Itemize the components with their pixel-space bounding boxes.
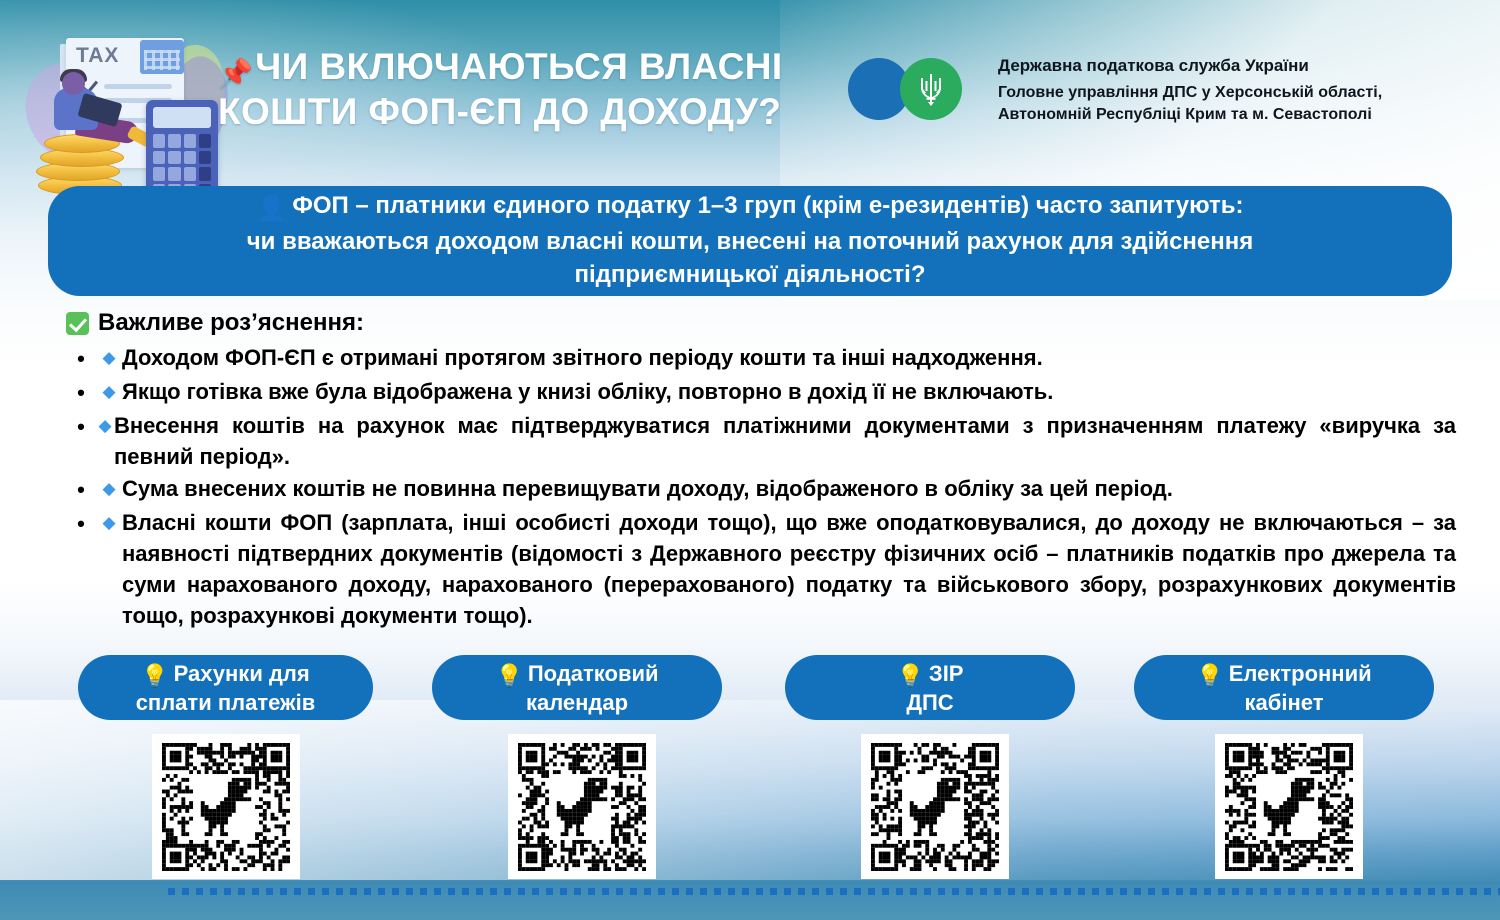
question-line-3: підприємницької діяльності? xyxy=(574,258,925,291)
org-department-line-2: Автономній Республіці Крим та м. Севасто… xyxy=(998,104,1382,126)
dps-logo xyxy=(848,50,998,128)
qr-code-payment-accounts[interactable] xyxy=(152,734,300,879)
qr-code-image xyxy=(1225,743,1353,871)
list-item: • ◆ Внесення коштів на рахунок має підтв… xyxy=(66,410,1456,472)
list-item: • ◆ Сума внесених коштів не повинна пере… xyxy=(66,473,1456,506)
link-button-label: ЗІР xyxy=(929,661,964,686)
qr-code-image xyxy=(162,743,290,871)
title-line-1-text: ЧИ ВКЛЮЧАЮТЬСЯ ВЛАСНІ xyxy=(255,46,782,87)
bottom-dotted-divider xyxy=(168,888,1500,895)
explanation-bullet-list: • ◆ Доходом ФОП-ЄП є отримані протягом з… xyxy=(66,342,1456,631)
link-button-line-2: кабінет xyxy=(1245,689,1324,716)
question-line-1-text: ФОП – платники єдиного податку 1–3 груп … xyxy=(292,192,1243,219)
infographic-page: TAX 📌ЧИ ВКЛЮЧАЮ xyxy=(0,0,1500,920)
bullet-marker: • xyxy=(66,410,96,443)
list-item: • ◆ Якщо готівка вже була відображена у … xyxy=(66,376,1456,409)
link-button-line-1: 💡Податковий xyxy=(495,660,658,689)
link-button-line-1: 💡Електронний xyxy=(1196,660,1371,689)
bullet-marker: • xyxy=(66,376,96,409)
bullet-text: Внесення коштів на рахунок має підтвердж… xyxy=(114,410,1456,472)
link-buttons-row: 💡Рахунки для сплати платежів 💡Податковий… xyxy=(0,655,1500,725)
qr-code-image xyxy=(871,743,999,871)
link-button-label: Рахунки для xyxy=(174,661,310,686)
bullet-text: Власні кошти ФОП (зарплата, інші особист… xyxy=(122,507,1456,631)
illustration-person-head xyxy=(62,72,85,95)
list-item: • ◆ Власні кошти ФОП (зарплата, інші осо… xyxy=(66,507,1456,631)
diamond-icon: ◆ xyxy=(96,507,122,539)
title-line-1: 📌ЧИ ВКЛЮЧАЮТЬСЯ ВЛАСНІ xyxy=(218,44,838,89)
person-icon: 👤 xyxy=(256,192,286,225)
tax-document-label: TAX xyxy=(76,44,119,68)
org-department-line-1: Головне управління ДПС у Херсонській обл… xyxy=(998,82,1382,104)
diamond-icon: ◆ xyxy=(96,473,122,505)
link-button-line-2: сплати платежів xyxy=(136,689,316,716)
org-name: Державна податкова служба України xyxy=(998,54,1382,77)
qr-code-image xyxy=(518,743,646,871)
link-button-zir-dps[interactable]: 💡ЗІР ДПС xyxy=(785,655,1075,720)
pushpin-icon: 📌 xyxy=(218,60,253,88)
question-line-2: чи вважаються доходом власні кошти, внес… xyxy=(247,225,1254,258)
bullet-text: Доходом ФОП-ЄП є отримані протягом звітн… xyxy=(122,342,1456,373)
question-line-1: 👤ФОП – платники єдиного податку 1–3 груп… xyxy=(256,189,1243,225)
check-mark-icon xyxy=(66,312,89,335)
diamond-icon: ◆ xyxy=(96,376,122,408)
link-button-line-2: ДПС xyxy=(906,689,953,716)
link-button-label: Електронний xyxy=(1229,661,1372,686)
diamond-icon: ◆ xyxy=(96,410,114,442)
bullet-text: Якщо готівка вже була відображена у книз… xyxy=(122,376,1456,407)
link-button-line-1: 💡Рахунки для xyxy=(141,660,309,689)
trident-emblem-icon xyxy=(919,72,943,106)
illustration-calendar-icon xyxy=(140,40,184,74)
bullet-marker: • xyxy=(66,473,96,506)
diamond-icon: ◆ xyxy=(96,342,122,374)
link-button-electronic-cabinet[interactable]: 💡Електронний кабінет xyxy=(1134,655,1434,720)
page-title: 📌ЧИ ВКЛЮЧАЮТЬСЯ ВЛАСНІ КОШТИ ФОП-ЄП ДО Д… xyxy=(218,44,838,134)
lightbulb-icon: 💡 xyxy=(495,662,522,689)
link-button-line-2: календар xyxy=(526,689,628,716)
bullet-marker: • xyxy=(66,507,96,540)
link-button-label: Податковий xyxy=(528,661,659,686)
lightbulb-icon: 💡 xyxy=(897,662,924,689)
explanation-section: Важливе роз’яснення: • ◆ Доходом ФОП-ЄП … xyxy=(66,308,1456,632)
qr-code-tax-calendar[interactable] xyxy=(508,734,656,879)
illustration-text-line xyxy=(104,84,172,89)
explanation-heading-text: Важливе роз’яснення: xyxy=(98,308,364,338)
link-button-payment-accounts[interactable]: 💡Рахунки для сплати платежів xyxy=(78,655,373,720)
qr-code-electronic-cabinet[interactable] xyxy=(1215,734,1363,879)
lightbulb-icon: 💡 xyxy=(141,662,168,689)
qr-code-row xyxy=(0,734,1500,879)
logo-green-circle xyxy=(900,58,962,120)
lightbulb-icon: 💡 xyxy=(1196,662,1223,689)
question-banner: 👤ФОП – платники єдиного податку 1–3 груп… xyxy=(48,186,1452,296)
qr-code-zir-dps[interactable] xyxy=(861,734,1009,879)
explanation-heading: Важливе роз’яснення: xyxy=(66,308,1456,338)
list-item: • ◆ Доходом ФОП-ЄП є отримані протягом з… xyxy=(66,342,1456,375)
organization-header: Державна податкова служба України Головн… xyxy=(848,50,1488,128)
title-line-2: КОШТИ ФОП-ЄП ДО ДОХОДУ? xyxy=(218,89,838,134)
illustration-coin-stack xyxy=(36,132,124,194)
link-button-tax-calendar[interactable]: 💡Податковий календар xyxy=(432,655,722,720)
bullet-text: Сума внесених коштів не повинна перевищу… xyxy=(122,473,1456,504)
link-button-line-1: 💡ЗІР xyxy=(897,660,964,689)
tax-illustration: TAX xyxy=(18,14,233,204)
bullet-marker: • xyxy=(66,342,96,375)
